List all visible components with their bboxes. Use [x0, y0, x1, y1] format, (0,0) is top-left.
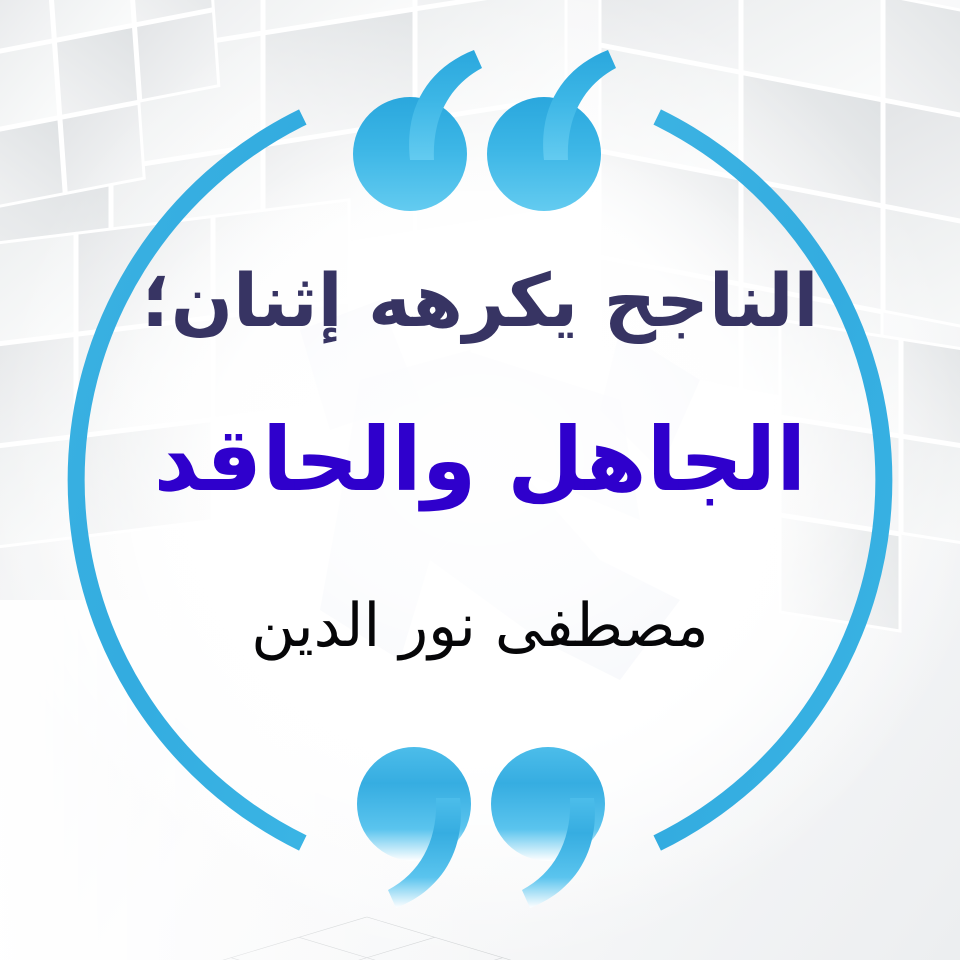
quote-line-secondary: الجاهل والحاقد [0, 416, 960, 504]
quote-line-primary: الناجح يكرهه إثنان؛ [0, 265, 960, 338]
open-quote-icon [348, 48, 618, 218]
quote-card: الناجح يكرهه إثنان؛ الجاهل والحاقد مصطفى… [0, 0, 960, 960]
close-quote-icon [352, 742, 622, 922]
quote-author: مصطفى نور الدين [0, 596, 960, 656]
